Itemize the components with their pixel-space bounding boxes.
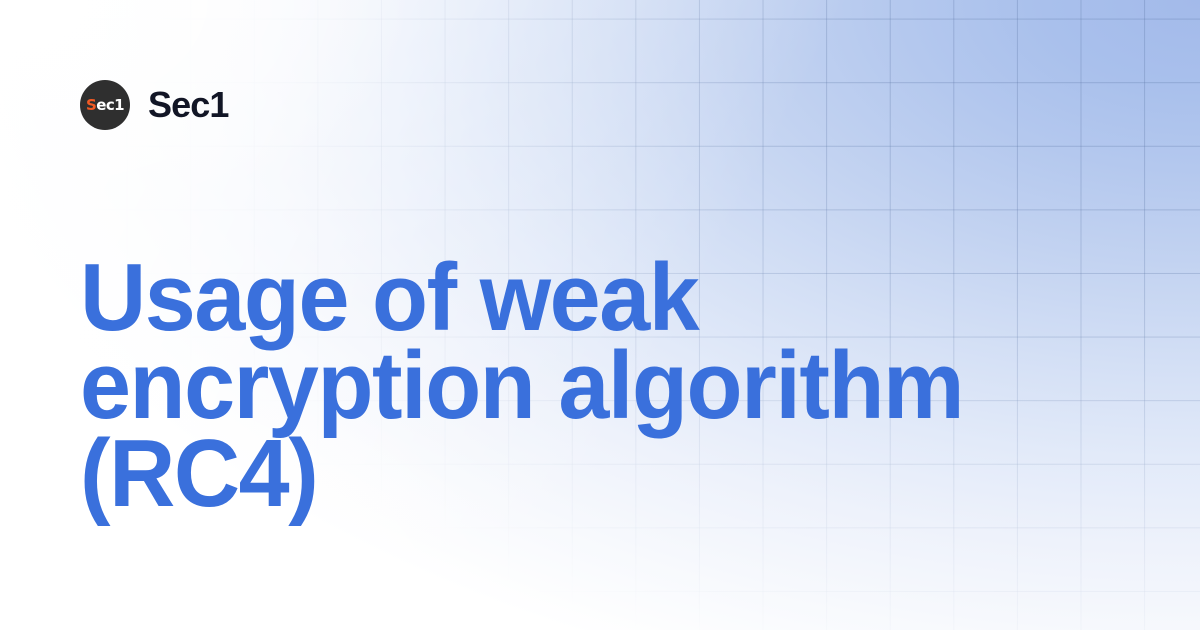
brand-name: Sec1 xyxy=(148,87,228,123)
logo-mark-s-glyph: S xyxy=(86,96,96,114)
sec1-logo-mark-icon: Sec1 xyxy=(80,80,130,130)
brand-lockup[interactable]: Sec1 Sec1 xyxy=(80,80,228,130)
card-content: Sec1 Sec1 Usage of weak encryption algor… xyxy=(0,0,1200,630)
logo-mark-wordmark: Sec1 xyxy=(86,98,124,113)
og-card: Sec1 Sec1 Usage of weak encryption algor… xyxy=(0,0,1200,630)
logo-mark-ec1-glyph: ec1 xyxy=(96,96,124,114)
page-title: Usage of weak encryption algorithm (RC4) xyxy=(80,254,1045,518)
